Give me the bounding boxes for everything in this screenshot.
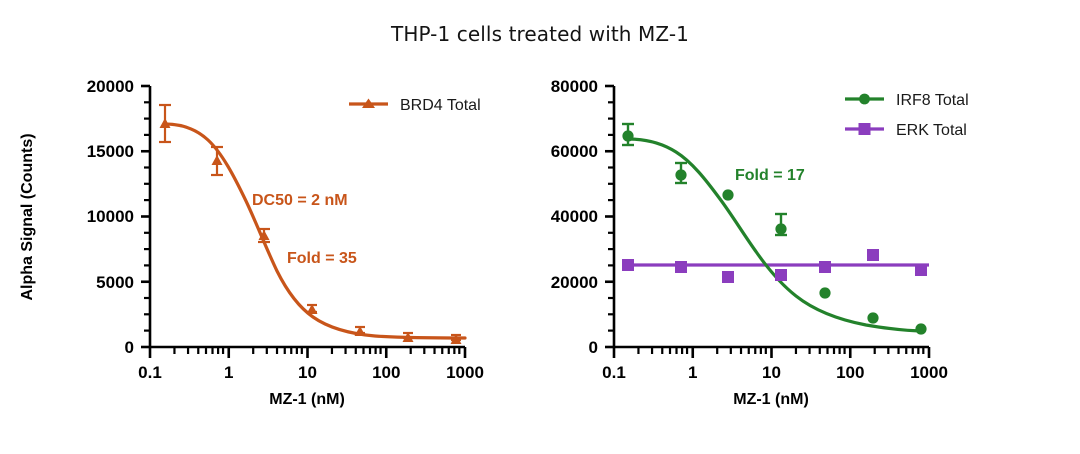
right-annotation-fold: Fold = 17 [735,167,805,184]
left-ytick-5000: 5000 [96,273,134,292]
left-ytick-15000: 15000 [87,142,134,161]
right-ytick-60000: 60000 [551,142,598,161]
legend-label-erk: ERK Total [896,122,967,139]
legend-marker-circle-irf8 [859,94,870,105]
right-xtick-1: 1 [688,363,697,382]
figure-root: THP-1 cells treated with MZ-1 Alpha Sign… [0,0,1080,454]
right-panel-svg: 80000 60000 40000 20000 0 [470,0,1080,454]
right-xtick-100: 100 [836,363,864,382]
left-ytick-10000: 10000 [87,207,134,226]
left-y-axis-title: Alpha Signal (Counts) [19,133,36,300]
right-legend: IRF8 Total ERK Total [845,92,969,139]
left-xtick-10: 10 [298,363,317,382]
legend-label-irf8: IRF8 Total [896,92,969,109]
left-xtick-0.1: 0.1 [138,363,162,382]
legend-marker-square-erk [859,123,871,135]
right-ytick-80000: 80000 [551,77,598,96]
left-x-axis-title: MZ-1 (nM) [269,391,345,408]
left-ytick-20000: 20000 [87,77,134,96]
left-panel-svg: Alpha Signal (Counts) [0,0,500,454]
left-annotation-dc50: DC50 = 2 nM [252,192,348,209]
chart-panel-left: Alpha Signal (Counts) [0,0,500,454]
left-xtick-1: 1 [224,363,233,382]
right-xtick-1000: 1000 [910,363,948,382]
right-xtick-0.1: 0.1 [602,363,626,382]
right-ytick-40000: 40000 [551,207,598,226]
left-series-brd4-markers [160,118,462,344]
right-x-axis-title: MZ-1 (nM) [733,391,809,408]
left-annotation-fold: Fold = 35 [287,250,357,267]
right-ytick-0: 0 [589,338,598,357]
left-series-brd4-points [159,105,461,340]
left-xtick-100: 100 [372,363,400,382]
chart-panel-right: 80000 60000 40000 20000 0 [470,0,1080,454]
left-y-major-ticks [141,86,150,347]
right-y-major-ticks [605,86,614,347]
legend-label-brd4: BRD4 Total [400,97,481,114]
right-ytick-20000: 20000 [551,273,598,292]
left-ytick-0: 0 [125,338,134,357]
left-legend: BRD4 Total [349,97,481,114]
right-xtick-10: 10 [762,363,781,382]
right-series-irf8-markers [622,130,926,334]
